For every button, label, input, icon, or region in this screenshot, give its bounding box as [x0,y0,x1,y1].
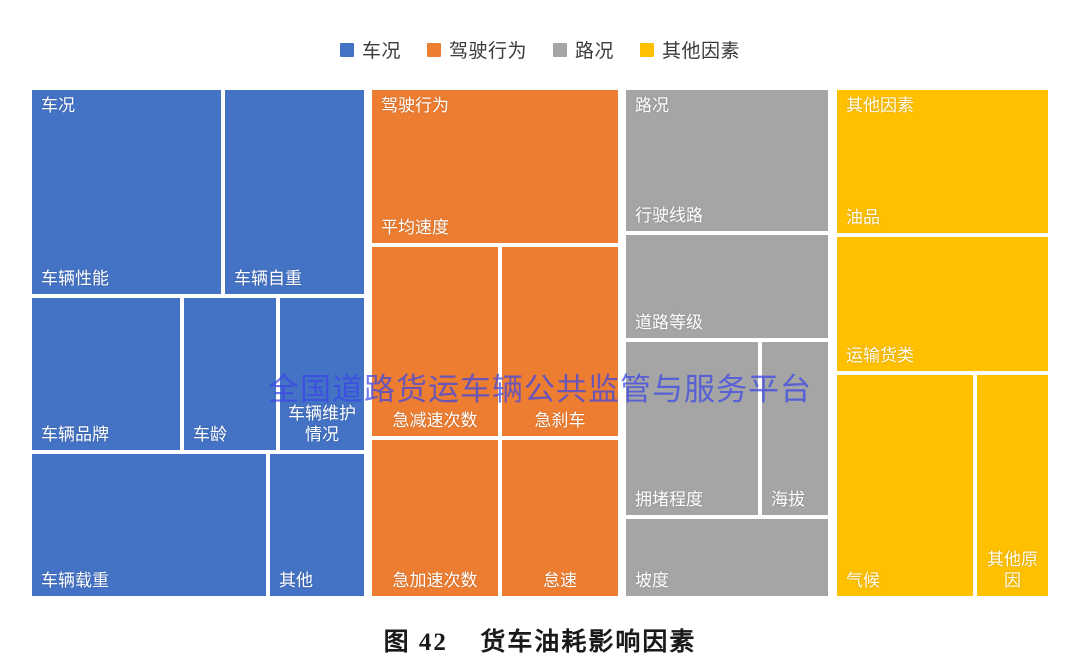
treemap-tile-label-vehicle-tare-weight: 车辆自重 [234,268,359,289]
figure-caption: 图 42 货车油耗影响因素 [0,622,1080,658]
legend-item-vehicle-condition[interactable]: 车况 [340,36,401,63]
treemap-group-label-driving-behavior: 驾驶行为 [381,95,449,116]
treemap-tile-label-vehicle-other: 其他 [279,570,359,591]
treemap-tile-vehicle-performance[interactable]: 车况 车辆性能 [30,88,223,296]
treemap-tile-other-reason[interactable]: 其他原因 [975,373,1050,598]
treemap-tile-label-rapid-acceleration-count: 急加速次数 [372,570,498,591]
legend-swatch-blue [340,43,354,57]
treemap-tile-average-speed[interactable]: 驾驶行为 平均速度 [370,88,620,245]
treemap-tile-vehicle-other[interactable]: 其他 [268,452,366,598]
legend-swatch-orange [427,43,441,57]
treemap-tile-hard-braking[interactable]: 急刹车 [500,245,620,438]
treemap-tile-idling[interactable]: 怠速 [500,438,620,598]
treemap-tile-label-climate: 气候 [846,570,968,591]
treemap-group-label-vehicle-condition: 车况 [41,95,75,116]
treemap-tile-label-other-reason: 其他原因 [977,549,1048,591]
treemap-tile-label-vehicle-performance: 车辆性能 [41,268,216,289]
treemap-tile-vehicle-brand[interactable]: 车辆品牌 [30,296,182,452]
legend-swatch-yellow [640,43,654,57]
chart-legend: 车况 驾驶行为 路况 其他因素 [0,36,1080,63]
treemap-tile-slope[interactable]: 坡度 [624,517,830,598]
treemap-tile-label-hard-braking: 急刹车 [502,410,618,431]
treemap-tile-driving-route[interactable]: 路况 行驶线路 [624,88,830,233]
treemap-tile-vehicle-maintenance[interactable]: 车辆维护情况 [278,296,366,452]
legend-label-vehicle-condition: 车况 [362,36,401,63]
legend-label-road-condition: 路况 [575,36,614,63]
treemap-tile-label-slope: 坡度 [635,570,823,591]
treemap-tile-label-road-grade: 道路等级 [635,312,823,333]
treemap-tile-rapid-acceleration-count[interactable]: 急加速次数 [370,438,500,598]
treemap-tile-label-vehicle-maintenance: 车辆维护情况 [280,403,364,445]
treemap-group-label-road-condition: 路况 [635,95,669,116]
treemap-tile-congestion-level[interactable]: 拥堵程度 [624,340,760,517]
treemap-tile-label-driving-route: 行驶线路 [635,205,823,226]
legend-item-road-condition[interactable]: 路况 [553,36,614,63]
legend-swatch-gray [553,43,567,57]
treemap-group-label-other-factors: 其他因素 [846,95,914,116]
treemap-tile-vehicle-load[interactable]: 车辆载重 [30,452,268,598]
treemap-tile-climate[interactable]: 气候 [835,373,975,598]
treemap-tile-rapid-deceleration-count[interactable]: 急减速次数 [370,245,500,438]
legend-item-other-factors[interactable]: 其他因素 [640,36,740,63]
treemap-tile-cargo-type[interactable]: 运输货类 [835,235,1050,373]
treemap-tile-fuel-quality[interactable]: 其他因素 油品 [835,88,1050,235]
legend-item-driving-behavior[interactable]: 驾驶行为 [427,36,527,63]
legend-label-other-factors: 其他因素 [662,36,740,63]
treemap-tile-label-cargo-type: 运输货类 [846,345,1043,366]
treemap-tile-label-congestion-level: 拥堵程度 [635,489,753,510]
treemap-tile-vehicle-tare-weight[interactable]: 车辆自重 [223,88,366,296]
figure-number: 图 42 [384,629,448,656]
treemap-tile-label-vehicle-load: 车辆载重 [41,570,261,591]
treemap-tile-label-rapid-deceleration-count: 急减速次数 [372,410,498,431]
treemap-tile-label-idling: 怠速 [502,570,618,591]
treemap-tile-label-vehicle-age: 车龄 [193,424,271,445]
treemap-tile-label-fuel-quality: 油品 [846,207,1043,228]
treemap-tile-road-grade[interactable]: 道路等级 [624,233,830,340]
figure-title: 货车油耗影响因素 [480,629,696,656]
treemap-tile-label-altitude: 海拔 [771,489,823,510]
legend-label-driving-behavior: 驾驶行为 [449,36,527,63]
treemap-tile-altitude[interactable]: 海拔 [760,340,830,517]
treemap-tile-vehicle-age[interactable]: 车龄 [182,296,278,452]
treemap-tile-label-vehicle-brand: 车辆品牌 [41,424,175,445]
treemap-tile-label-average-speed: 平均速度 [381,217,613,238]
treemap-chart: 车况 车辆性能 车辆自重 车辆品牌 车龄 车辆维护情况 车辆载重 其他 驾驶行为… [30,88,1050,598]
